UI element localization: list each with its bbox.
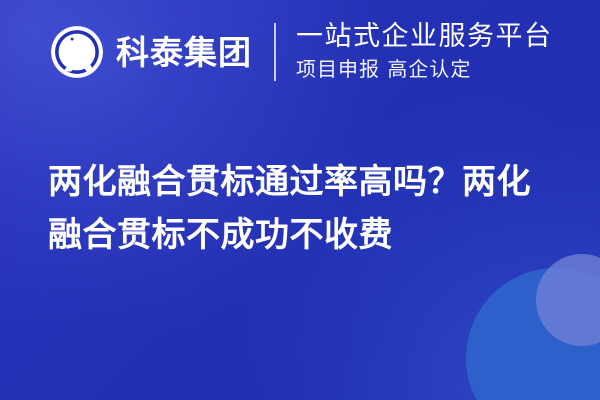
title-line-2: 融合贯标不成功不收费 — [48, 209, 560, 262]
decorative-circle-small — [536, 254, 600, 346]
page-title: 两化融合贯标通过率高吗？两化 融合贯标不成功不收费 — [48, 156, 560, 262]
title-line-1: 两化融合贯标通过率高吗？两化 — [48, 156, 560, 209]
tagline-primary: 一站式企业服务平台 — [296, 22, 553, 52]
tagline-secondary: 项目申报 高企认定 — [296, 57, 553, 82]
ketai-circular-logo-icon — [50, 25, 104, 79]
promo-banner: 科泰集团 一站式企业服务平台 项目申报 高企认定 两化融合贯标通过率高吗？两化 … — [0, 0, 600, 400]
banner-header: 科泰集团 一站式企业服务平台 项目申报 高企认定 — [50, 22, 553, 82]
company-name: 科泰集团 — [116, 36, 252, 69]
logo-lockup[interactable]: 科泰集团 — [50, 25, 252, 79]
decorative-circle-large — [466, 268, 600, 400]
header-divider — [274, 23, 276, 81]
tagline-block: 一站式企业服务平台 项目申报 高企认定 — [296, 22, 553, 82]
